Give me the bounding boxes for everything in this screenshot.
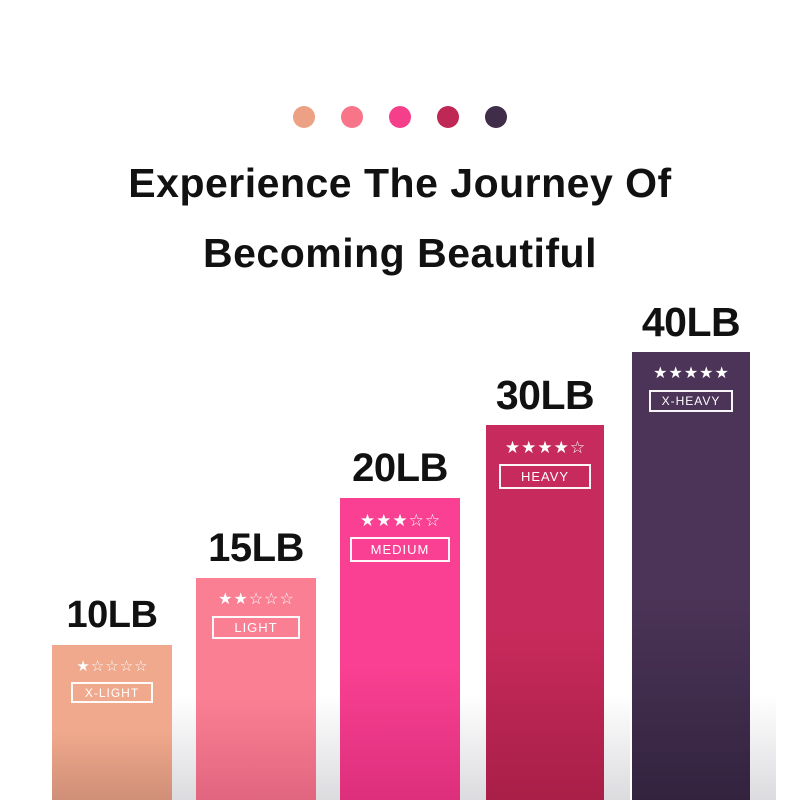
floor-shadow <box>604 650 630 800</box>
resistance-bar-chart: 10LB★☆☆☆☆X-LIGHT15LB★★☆☆☆LIGHT20LB★★★☆☆M… <box>0 0 800 800</box>
tier-label-box: X-LIGHT <box>71 682 153 703</box>
star-empty-icon: ☆ <box>425 512 440 529</box>
tier-label-box: HEAVY <box>499 464 591 489</box>
bar-40lb[interactable]: ★★★★★X-HEAVY <box>632 352 750 800</box>
star-empty-icon: ☆ <box>134 659 147 674</box>
tier-label-box: LIGHT <box>212 616 300 639</box>
star-filled-icon: ★ <box>218 592 232 608</box>
star-empty-icon: ☆ <box>264 592 278 608</box>
star-rating: ★★★☆☆ <box>360 512 440 529</box>
floor-shadow <box>750 650 776 800</box>
star-rating: ★★★★☆ <box>505 439 585 456</box>
star-filled-icon: ★ <box>684 366 698 382</box>
bar-group: 30LB★★★★☆HEAVY <box>486 0 604 800</box>
star-filled-icon: ★ <box>653 366 667 382</box>
floor-shadow <box>172 650 198 800</box>
star-empty-icon: ☆ <box>409 512 424 529</box>
floor-shadow <box>460 650 486 800</box>
floor-shadow <box>316 650 342 800</box>
bar-group: 10LB★☆☆☆☆X-LIGHT <box>52 0 172 800</box>
star-filled-icon: ★ <box>537 439 552 456</box>
star-rating: ★★★★★ <box>653 366 729 382</box>
bar-10lb[interactable]: ★☆☆☆☆X-LIGHT <box>52 645 172 800</box>
star-empty-icon: ☆ <box>249 592 263 608</box>
infographic-root: Experience The Journey Of Becoming Beaut… <box>0 0 800 800</box>
bar-group: 20LB★★★☆☆MEDIUM <box>340 0 460 800</box>
bar-weight-label: 40LB <box>632 302 750 342</box>
star-empty-icon: ☆ <box>105 659 118 674</box>
bar-group: 15LB★★☆☆☆LIGHT <box>196 0 316 800</box>
star-filled-icon: ★ <box>505 439 520 456</box>
star-filled-icon: ★ <box>76 659 89 674</box>
star-filled-icon: ★ <box>668 366 682 382</box>
star-empty-icon: ☆ <box>120 659 133 674</box>
star-rating: ★☆☆☆☆ <box>76 659 147 674</box>
tier-label-box: MEDIUM <box>350 537 450 562</box>
star-filled-icon: ★ <box>392 512 407 529</box>
star-filled-icon: ★ <box>521 439 536 456</box>
star-filled-icon: ★ <box>233 592 247 608</box>
star-rating: ★★☆☆☆ <box>218 592 294 608</box>
bar-15lb[interactable]: ★★☆☆☆LIGHT <box>196 578 316 800</box>
bar-30lb[interactable]: ★★★★☆HEAVY <box>486 425 604 800</box>
bar-weight-label: 30LB <box>486 375 604 415</box>
bar-weight-label: 10LB <box>52 595 172 635</box>
star-empty-icon: ☆ <box>91 659 104 674</box>
bar-weight-label: 20LB <box>340 448 460 488</box>
star-filled-icon: ★ <box>554 439 569 456</box>
bar-weight-label: 15LB <box>196 528 316 568</box>
star-filled-icon: ★ <box>699 366 713 382</box>
tier-label-box: X-HEAVY <box>649 390 733 412</box>
star-filled-icon: ★ <box>360 512 375 529</box>
star-empty-icon: ☆ <box>570 439 585 456</box>
star-empty-icon: ☆ <box>280 592 294 608</box>
bar-20lb[interactable]: ★★★☆☆MEDIUM <box>340 498 460 800</box>
star-filled-icon: ★ <box>376 512 391 529</box>
bar-group: 40LB★★★★★X-HEAVY <box>632 0 750 800</box>
star-filled-icon: ★ <box>715 366 729 382</box>
